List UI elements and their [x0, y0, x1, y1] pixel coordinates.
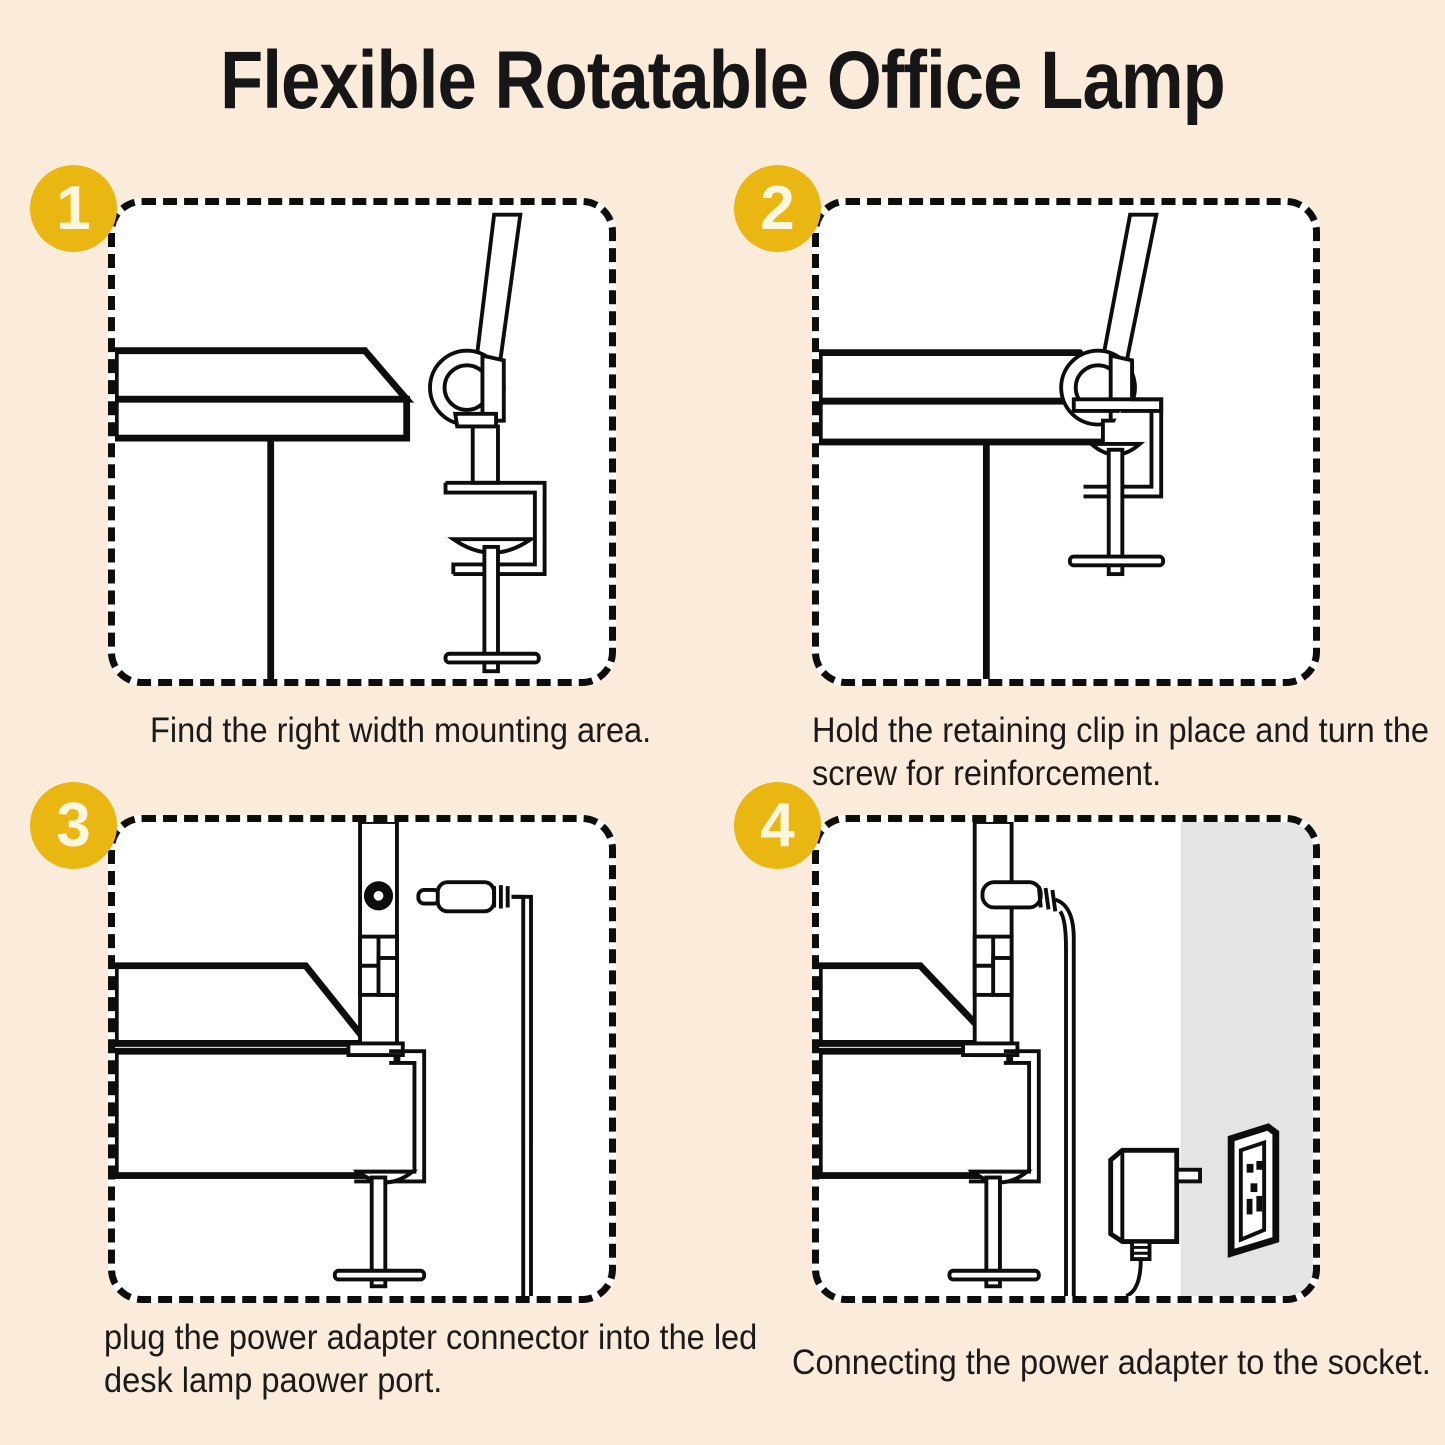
step-4-panel-wrap: 4: [812, 782, 1424, 1282]
step-2-illustration-panel: [812, 198, 1320, 686]
step-badge-4: 4: [734, 782, 821, 869]
step-4: 4: [722, 782, 1416, 1282]
step-badge-1: 1: [30, 165, 117, 252]
illustration-adapter-and-socket: [819, 822, 1313, 1296]
step-2: 2: [722, 165, 1416, 665]
step-1-panel-wrap: 1: [108, 165, 720, 665]
step-1-caption: Find the right width mounting area.: [150, 710, 782, 753]
step-badge-2: 2: [734, 165, 821, 252]
step-4-illustration-panel: [812, 815, 1320, 1303]
step-1-illustration-panel: [108, 198, 616, 686]
step-badge-3: 3: [30, 782, 117, 869]
step-2-panel-wrap: 2: [812, 165, 1424, 665]
illustration-desk-and-clamp: [115, 205, 609, 679]
step-4-caption: Connecting the power adapter to the sock…: [792, 1342, 1445, 1385]
illustration-connector-and-port: [115, 822, 609, 1296]
step-3: 3: [18, 782, 712, 1282]
step-1: 1: [18, 165, 712, 665]
steps-grid: 1: [0, 165, 1445, 1445]
step-3-illustration-panel: [108, 815, 616, 1303]
page-title: Flexible Rotatable Office Lamp: [101, 38, 1344, 124]
step-3-caption: plug the power adapter connector into th…: [104, 1317, 774, 1402]
step-3-panel-wrap: 3: [108, 782, 720, 1282]
illustration-clamp-tightened: [819, 205, 1313, 679]
